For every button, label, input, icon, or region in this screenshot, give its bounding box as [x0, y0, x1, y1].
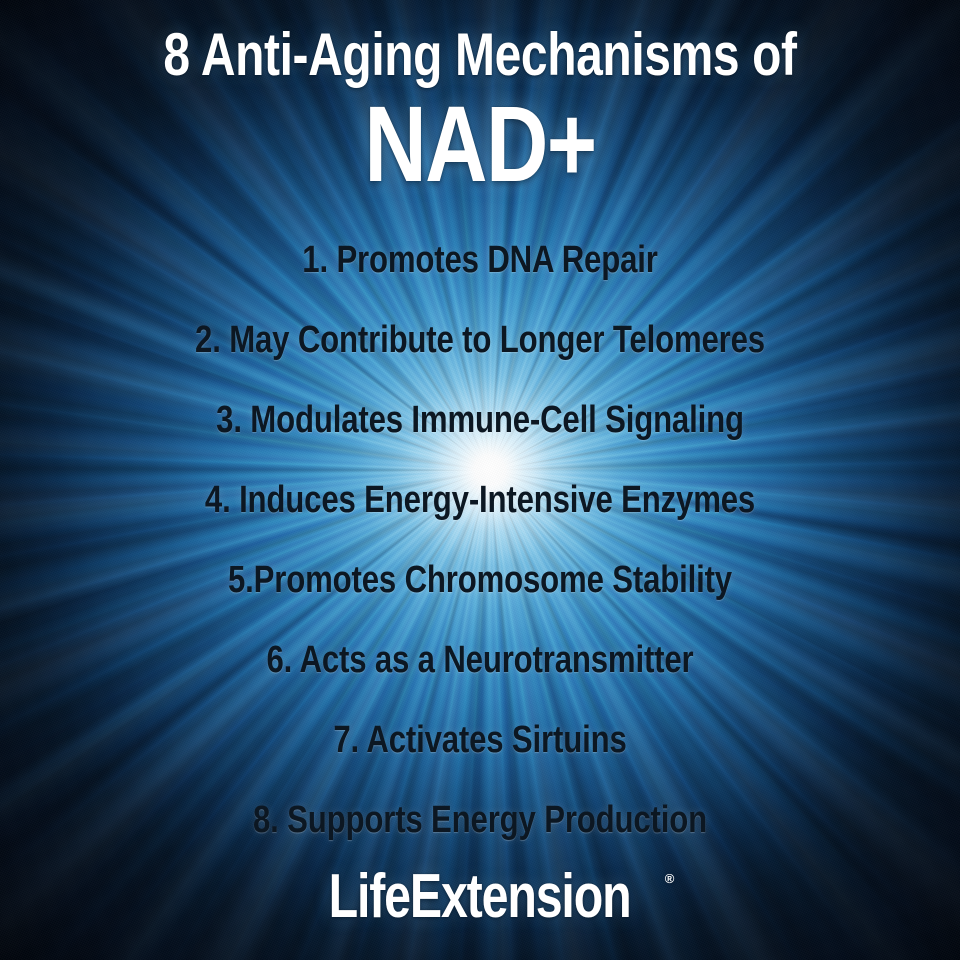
- list-item: 5.Promotes Chromosome Stability: [86, 560, 873, 600]
- list-item: 1. Promotes DNA Repair: [86, 240, 873, 280]
- list-item: 6. Acts as a Neurotransmitter: [86, 640, 873, 680]
- headline-block: 8 Anti-Aging Mechanisms of NAD+: [0, 22, 960, 196]
- page-subtitle-nad: NAD+: [96, 92, 864, 196]
- list-item: 8. Supports Energy Production: [86, 800, 873, 840]
- page-title: 8 Anti-Aging Mechanisms of: [96, 22, 864, 88]
- list-item: 4. Induces Energy-Intensive Enzymes: [86, 480, 873, 520]
- list-item: 7. Activates Sirtuins: [86, 720, 873, 760]
- poster-content: 8 Anti-Aging Mechanisms of NAD+ 1. Promo…: [0, 0, 960, 960]
- list-item: 3. Modulates Immune-Cell Signaling: [86, 400, 873, 440]
- list-item: 2. May Contribute to Longer Telomeres: [86, 320, 873, 360]
- registered-trademark-icon: ®: [665, 872, 675, 885]
- brand-wordmark: LifeExtension: [328, 866, 630, 928]
- brand-logo: LifeExtension ®: [286, 866, 675, 928]
- nad-infographic-poster: 8 Anti-Aging Mechanisms of NAD+ 1. Promo…: [0, 0, 960, 960]
- mechanism-list: 1. Promotes DNA Repair 2. May Contribute…: [0, 240, 960, 840]
